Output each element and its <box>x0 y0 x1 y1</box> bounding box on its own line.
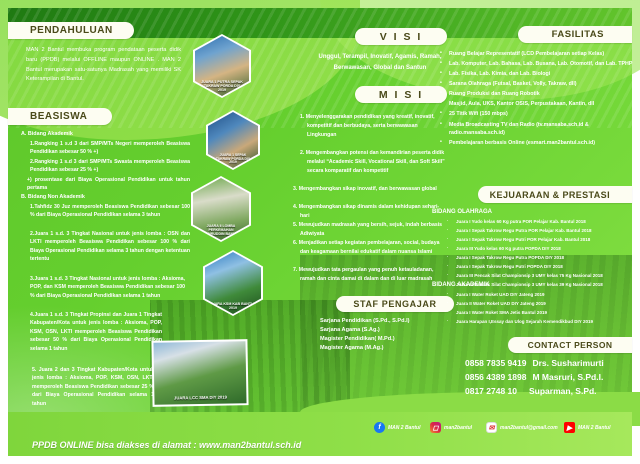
kejuaraan-item: Juara I Yudo kelas 60 Kg putra POR Pelaj… <box>447 218 637 226</box>
contact-name: Drs. Susharimurti <box>532 358 603 368</box>
social-label: man2bantul@gmail.com <box>500 425 558 431</box>
pendahuluan-header: PENDAHULUAN <box>8 22 134 39</box>
fasilitas-item: Ruang Belajar Representatif (LCD Pembela… <box>440 50 636 59</box>
kejuaraan-item: Juara I Sepak Takrow Regu Putra POPDA DI… <box>447 254 637 262</box>
beasiswa-nonakademik-item-4: 4.Juara 1 s.d. 3 Tingkat Propinsi dan Ju… <box>30 311 162 353</box>
fasilitas-item: Lab. Komputer, Lab. Bahasa, Lab. Busana,… <box>440 60 636 69</box>
beasiswa-nonakademik-item-5: 5. Juara 2 dan 3 Tingkat Kabupaten/Kota … <box>32 366 154 408</box>
social-instagram[interactable]: ◻ man2bantul <box>430 422 472 433</box>
staf-item-3: Magister Pendidikan( M.Pd.) <box>320 335 480 344</box>
contact-phone[interactable]: 0858 7835 9419 <box>465 358 526 368</box>
beasiswa-nonakademik-item-3: 3.Juara 1 s.d. 3 Tingkat Nasional untuk … <box>30 275 185 300</box>
beasiswa-nonakademik-item-1: 1.Tahfidz 30 Juz memperoleh Beasiswa Pen… <box>30 203 190 220</box>
fasilitas-item: Media Broadcasting TV dan Radio (tv.mans… <box>440 121 636 138</box>
visi-title: V I S I <box>380 31 423 43</box>
kejuaraan-item: Juara I Sepak Takrow Regu Putri POPDA DI… <box>447 263 637 271</box>
fasilitas-item: 25 Titik Wifi (150 mbps) <box>440 110 636 119</box>
contact-name: M Masruri, S.Pd.I. <box>532 372 603 382</box>
brochure-page: PENDAHULUAN MAN 2 Bantul membuka program… <box>0 0 640 464</box>
social-email[interactable]: ✉ man2bantul@gmail.com <box>486 422 558 433</box>
misi-item-3: 3. Mengembangkan sikap inovatif, dan ber… <box>293 185 445 194</box>
pendahuluan-title: PENDAHULUAN <box>30 25 113 36</box>
fasilitas-item: Lab. Fisika, Lab. Kimia, dan Lab. Biolog… <box>440 70 636 79</box>
contact-row: 0858 7835 9419 Drs. Susharimurti <box>465 358 640 368</box>
fasilitas-title: FASILITAS <box>552 29 604 40</box>
misi-item-7: 7. Mewujudkan tata pergaulan yang penuh … <box>293 266 448 284</box>
misi-item-4: 4. Mengembangkan sikap dinamis dalam keh… <box>293 203 445 221</box>
fasilitas-list: Ruang Belajar Representatif (LCD Pembela… <box>440 50 636 149</box>
visi-body: Unggul, Terampil, Inovatif, Agamis, Rama… <box>305 52 455 74</box>
contact-phone[interactable]: 0817 2748 10 <box>465 386 517 396</box>
fasilitas-header: FASILITAS <box>518 26 632 43</box>
social-facebook[interactable]: f MAN 2 Bantul <box>374 422 421 433</box>
beasiswa-akademik-note: +) prosentase dari Biaya Operasional Pen… <box>27 176 190 193</box>
staf-item-2: Sarjana Agama (S.Ag.) <box>320 326 480 335</box>
contact-phone[interactable]: 0856 4389 1898 <box>465 372 526 382</box>
ppdb-online-note: PPDB ONLINE bisa diakses di alamat : www… <box>32 440 301 450</box>
visi-header: V I S I <box>355 28 447 45</box>
beasiswa-akademik-heading: A. Bidang Akademik <box>21 131 191 138</box>
kejuaraan-olahraga-heading: BIDANG OLAHRAGA <box>432 208 492 216</box>
beasiswa-nonakademik-item-2: 2.Juara 1 s.d. 3 Tingkat Nasional untuk … <box>30 230 190 264</box>
misi-item-2: 2. Mengembangkan potensi dan kemandirian… <box>300 149 450 176</box>
staf-pengajar-title: STAF PENGAJAR <box>353 299 436 309</box>
kejuaraan-item: Juara I Sepak Takrow Regu Putri POR Pela… <box>447 236 637 244</box>
email-icon: ✉ <box>486 422 497 433</box>
contact-person-header: CONTACT PERSON <box>508 337 632 353</box>
youtube-icon: ▶ <box>564 422 575 433</box>
badge-caption: JUARA LCC SMA DIY 2019 <box>154 395 246 401</box>
kejuaraan-akademik-heading: BIDANG AKADEMIK <box>432 281 489 289</box>
contact-row: 0817 2748 10 Suparman, S.Pd. <box>465 386 640 396</box>
kejuaraan-item: Juara I Water Roket SMA Jetis Bantul 201… <box>447 309 633 317</box>
kejuaraan-header: KEJUARAAN & PRESTASI <box>478 186 632 203</box>
kejuaraan-item: Juara Harapan I,Essay dan Ulog Sejarah K… <box>447 318 633 326</box>
kejuaraan-item: Juara I Sepak Takrow Regu Putra POR Pela… <box>447 227 637 235</box>
misi-item-5: 5. Mewujudkan madrasah yang bersih, seju… <box>293 221 445 239</box>
contact-row: 0856 4389 1898 M Masruri, S.Pd.I. <box>465 372 640 382</box>
kejuaraan-item: Juara II Water Roket UAD DIY Jateng 2019 <box>447 300 633 308</box>
beasiswa-akademik-item-2: 2.Rangking 1 s.d 3 dari SMP/MTs Swasta m… <box>30 158 190 175</box>
pendahuluan-body: MAN 2 Bantul membuka program pendataan p… <box>26 46 181 85</box>
contact-person-title: CONTACT PERSON <box>528 340 613 350</box>
staf-item-4: Magister Agama (M.Ag.) <box>320 344 480 353</box>
social-label: man2bantul <box>444 425 472 431</box>
misi-title: M I S I <box>379 89 423 101</box>
fasilitas-item: Ruang Produksi dan Ruang Robotik <box>440 90 636 99</box>
beasiswa-header: BEASISWA <box>8 108 112 125</box>
fasilitas-item: Pembelajaran berbasis Online (esmart.man… <box>440 139 636 148</box>
fasilitas-item: Masjid, Aula, UKS, Kantor OSIS, Perpusta… <box>440 100 636 109</box>
misi-header: M I S I <box>355 86 447 103</box>
social-youtube[interactable]: ▶ MAN 2 Bantul <box>564 422 611 433</box>
kejuaraan-item: Juara III Yudo kelas 60 Kg putra POPDA D… <box>447 245 637 253</box>
beasiswa-akademik-item-1: 1.Rangking 1 s.d 3 dari SMP/MTs Negeri m… <box>30 140 190 157</box>
kejuaraan-olahraga-list: Juara I Yudo kelas 60 Kg putra POR Pelaj… <box>447 218 637 290</box>
kejuaraan-item: Juara I Water Roket UAD DIY Jateng 2019 <box>447 291 633 299</box>
badge-lcc: JUARA LCC SMA DIY 2019 <box>151 339 248 407</box>
social-label: MAN 2 Bantul <box>578 425 611 431</box>
beasiswa-nonakademik-heading: B. Bidang Non Akademik <box>21 194 191 201</box>
fasilitas-item: Sarana Olahraga (Futsal, Basket, Volly, … <box>440 80 636 89</box>
misi-item-6: 6. Menjadikan setiap kegiatan pembelajar… <box>293 239 445 257</box>
beasiswa-title: BEASISWA <box>30 111 87 122</box>
staf-pengajar-header: STAF PENGAJAR <box>336 296 454 312</box>
contact-name: Suparman, S.Pd. <box>529 386 597 396</box>
social-label: MAN 2 Bantul <box>388 425 421 431</box>
misi-item-1: 1. Menyelenggarakan pendidikan yang krea… <box>300 113 445 140</box>
kejuaraan-title: KEJUARAAN & PRESTASI <box>490 190 610 200</box>
facebook-icon: f <box>374 422 385 433</box>
instagram-icon: ◻ <box>430 422 441 433</box>
kejuaraan-item: Juara III Pencak Silat Championsip 3 UMY… <box>447 272 637 280</box>
kejuaraan-akademik-list: Juara I Water Roket UAD DIY Jateng 2019 … <box>447 291 633 327</box>
